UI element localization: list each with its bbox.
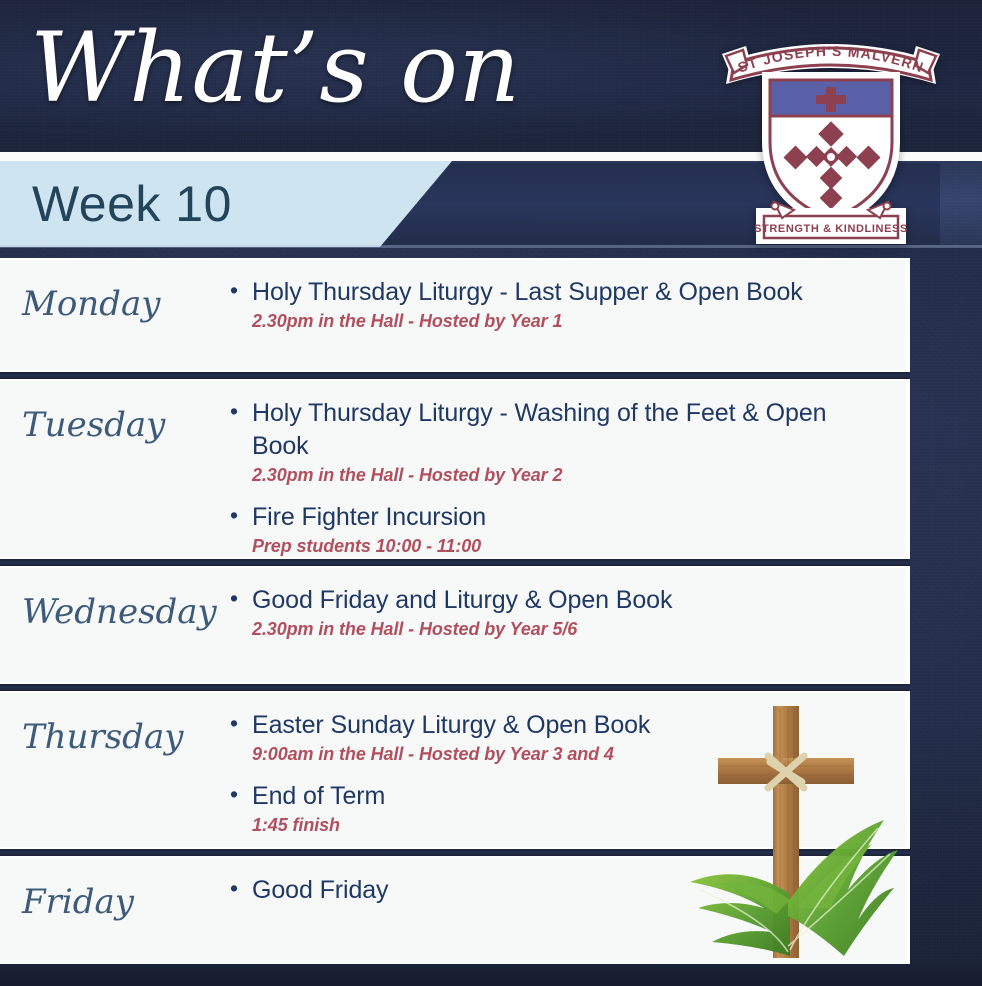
day-label-thursday: Thursday [0, 707, 228, 757]
event-title: Good Friday [228, 874, 875, 907]
list-item: End of Term 1:45 finish [228, 780, 875, 837]
page-title: What’s on [30, 18, 521, 119]
event-detail: 1:45 finish [228, 814, 875, 837]
event-title: Holy Thursday Liturgy - Last Supper & Op… [228, 276, 875, 309]
crest-motto-text: STRENGTH & KINDLINESS [754, 223, 908, 235]
event-title: Easter Sunday Liturgy & Open Book [228, 709, 875, 742]
list-item: Good Friday [228, 874, 875, 907]
list-item: Fire Fighter Incursion Prep students 10:… [228, 501, 875, 558]
week-label: Week 10 [32, 161, 232, 247]
day-label-monday: Monday [0, 274, 228, 324]
table-row: Wednesday Good Friday and Liturgy & Open… [0, 566, 910, 684]
events-wednesday: Good Friday and Liturgy & Open Book 2.30… [228, 582, 905, 643]
event-detail: 2.30pm in the Hall - Hosted by Year 5/6 [228, 618, 875, 641]
event-detail: 2.30pm in the Hall - Hosted by Year 2 [228, 464, 875, 487]
event-title: End of Term [228, 780, 875, 813]
school-crest-logo: ST JOSEPH'S MALVERN [712, 32, 950, 252]
row-divider [0, 849, 910, 856]
events-friday: Good Friday [228, 872, 905, 909]
row-divider [0, 684, 910, 691]
schedule-list: Monday Holy Thursday Liturgy - Last Supp… [0, 258, 910, 986]
day-label-friday: Friday [0, 872, 228, 922]
row-divider [0, 372, 910, 379]
event-title: Holy Thursday Liturgy - Washing of the F… [228, 397, 875, 463]
bottom-strip [0, 964, 982, 986]
list-item: Easter Sunday Liturgy & Open Book 9:00am… [228, 709, 875, 766]
events-thursday: Easter Sunday Liturgy & Open Book 9:00am… [228, 707, 905, 840]
event-title: Fire Fighter Incursion [228, 501, 875, 534]
event-detail: 9:00am in the Hall - Hosted by Year 3 an… [228, 743, 875, 766]
list-item: Holy Thursday Liturgy - Washing of the F… [228, 397, 875, 487]
whats-on-poster: What’s on ST JOSEPH'S MALVERN [0, 0, 982, 986]
crest-motto-ribbon: STRENGTH & KINDLINESS [754, 202, 908, 244]
table-row: Tuesday Holy Thursday Liturgy - Washing … [0, 379, 910, 559]
table-row: Monday Holy Thursday Liturgy - Last Supp… [0, 258, 910, 372]
table-row: Thursday Easter Sunday Liturgy & Open Bo… [0, 691, 910, 849]
event-detail: Prep students 10:00 - 11:00 [228, 535, 875, 558]
events-tuesday: Holy Thursday Liturgy - Washing of the F… [228, 395, 905, 561]
day-label-wednesday: Wednesday [0, 582, 228, 632]
day-label-tuesday: Tuesday [0, 395, 228, 445]
event-title: Good Friday and Liturgy & Open Book [228, 584, 875, 617]
crest-shield [766, 76, 896, 224]
event-detail: 2.30pm in the Hall - Hosted by Year 1 [228, 310, 875, 333]
list-item: Good Friday and Liturgy & Open Book 2.30… [228, 584, 875, 641]
events-monday: Holy Thursday Liturgy - Last Supper & Op… [228, 274, 905, 335]
list-item: Holy Thursday Liturgy - Last Supper & Op… [228, 276, 875, 333]
